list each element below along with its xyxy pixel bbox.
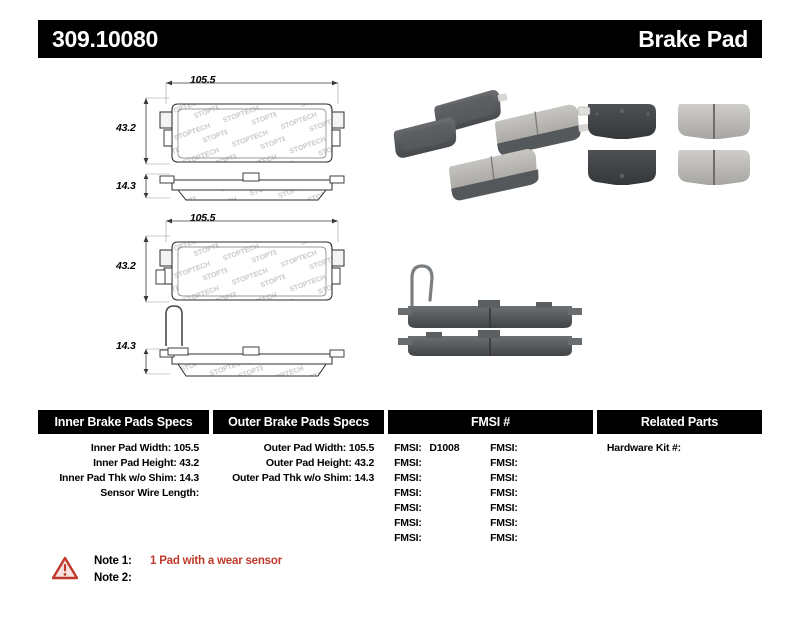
fmsi-value [422,532,427,544]
fmsi-value [518,532,523,544]
related-parts-row: Hardware Kit #: [607,441,762,456]
fmsi-label: FMSI: [394,487,422,499]
fmsi-label: FMSI: [490,442,518,454]
spec-row: Inner Pad Thk w/o Shim: 14.3 [38,471,199,486]
fmsi-label: FMSI: [490,517,518,529]
fmsi-row: FMSI: D1008 [394,441,490,456]
fmsi-value [518,472,523,484]
spec-label: Outer Pad Height: [266,457,352,469]
fmsi-row: FMSI: [394,471,490,486]
fmsi-value: D1008 [424,442,459,454]
spec-label: Inner Pad Height: [93,457,177,469]
page-title: Brake Pad [638,26,748,53]
fmsi-value [422,487,427,499]
spec-value: 14.3 [354,472,374,484]
spec-row: Outer Pad Thk w/o Shim: 14.3 [213,471,374,486]
fmsi-value [518,442,523,454]
spec-row: Inner Pad Width: 105.5 [38,441,199,456]
fmsi-label: FMSI: [490,502,518,514]
product-photographs [380,64,770,384]
fmsi-label: FMSI: [394,502,422,514]
fmsi-row: FMSI: [394,516,490,531]
fmsi-value [422,472,427,484]
fmsi-row: FMSI: [490,441,586,456]
fmsi-value [422,502,427,514]
fmsi-label: FMSI: [394,442,422,454]
fmsi-value [518,517,523,529]
fmsi-value [518,487,523,499]
notes-section: Note 1: 1 Pad with a wear sensor Note 2: [52,553,282,587]
brake-pad-set-topdown-photo [570,92,770,200]
fmsi-row: FMSI: [394,456,490,471]
page-header: 309.10080 Brake Pad [38,20,762,58]
spec-value: 43.2 [179,457,199,469]
fmsi-row: FMSI: [490,456,586,471]
outer-specs-cell: Outer Pad Width: 105.5 Outer Pad Height:… [213,441,384,546]
spec-label: Outer Pad Width: [264,442,346,454]
spec-row: Outer Pad Height: 43.2 [213,456,374,471]
note-label: Note 2: [94,570,144,587]
brake-pad-edge-view-photo [390,244,590,362]
fmsi-label: FMSI: [490,487,518,499]
fmsi-cell: FMSI: D1008 FMSI: FMSI: FMSI: FMSI: [388,441,593,546]
warning-triangle-icon [52,556,78,580]
spec-value: 105.5 [174,442,199,454]
fmsi-row: FMSI: [490,531,586,546]
fmsi-label: FMSI: [394,532,422,544]
fmsi-row: FMSI: [394,531,490,546]
spec-row: Inner Pad Height: 43.2 [38,456,199,471]
column-header-outer-specs: Outer Brake Pads Specs [213,410,384,434]
fmsi-value [422,517,427,529]
fmsi-row: FMSI: [394,486,490,501]
brake-pad-set-angled-photo [390,80,590,210]
note-row: Note 1: 1 Pad with a wear sensor [94,553,282,570]
table-body-row: Inner Pad Width: 105.5 Inner Pad Height:… [38,441,762,546]
fmsi-label: FMSI: [394,472,422,484]
fmsi-value [518,457,523,469]
fmsi-row: FMSI: [490,501,586,516]
specifications-table: Inner Brake Pads Specs Outer Brake Pads … [38,410,762,546]
fmsi-column-left: FMSI: D1008 FMSI: FMSI: FMSI: FMSI: [394,441,490,546]
fmsi-row: FMSI: [490,471,586,486]
fmsi-label: FMSI: [394,457,422,469]
fmsi-label: FMSI: [394,517,422,529]
column-header-inner-specs: Inner Brake Pads Specs [38,410,209,434]
related-parts-label: Hardware Kit #: [607,442,681,454]
spec-row: Sensor Wire Length: [38,486,199,501]
spec-value: 14.3 [179,472,199,484]
fmsi-label: FMSI: [490,457,518,469]
spec-label: Inner Pad Width: [91,442,171,454]
spec-value: 43.2 [354,457,374,469]
fmsi-row: FMSI: [490,516,586,531]
spec-label: Sensor Wire Length: [100,487,199,499]
fmsi-row: FMSI: [394,501,490,516]
spec-row: Outer Pad Width: 105.5 [213,441,374,456]
technical-drawings: STOPTECH STOPTECH 105.5 43.2 14.3 [38,64,378,384]
table-header-row: Inner Brake Pads Specs Outer Brake Pads … [38,410,762,434]
fmsi-value [518,502,523,514]
column-header-related-parts: Related Parts [597,410,762,434]
column-header-fmsi: FMSI # [388,410,593,434]
note-list: Note 1: 1 Pad with a wear sensor Note 2: [94,553,282,587]
related-parts-cell: Hardware Kit #: [597,441,762,546]
part-number: 309.10080 [52,26,158,53]
fmsi-value [422,457,427,469]
fmsi-row: FMSI: [490,486,586,501]
note-row: Note 2: [94,570,282,587]
spec-label: Outer Pad Thk w/o Shim: [232,472,352,484]
note-value: 1 Pad with a wear sensor [150,553,282,570]
note-label: Note 1: [94,553,144,570]
spec-value: 105.5 [349,442,374,454]
spec-label: Inner Pad Thk w/o Shim: [59,472,176,484]
fmsi-column-right: FMSI: FMSI: FMSI: FMSI: FMSI: [490,441,586,546]
inner-specs-cell: Inner Pad Width: 105.5 Inner Pad Height:… [38,441,209,546]
fmsi-label: FMSI: [490,472,518,484]
fmsi-label: FMSI: [490,532,518,544]
